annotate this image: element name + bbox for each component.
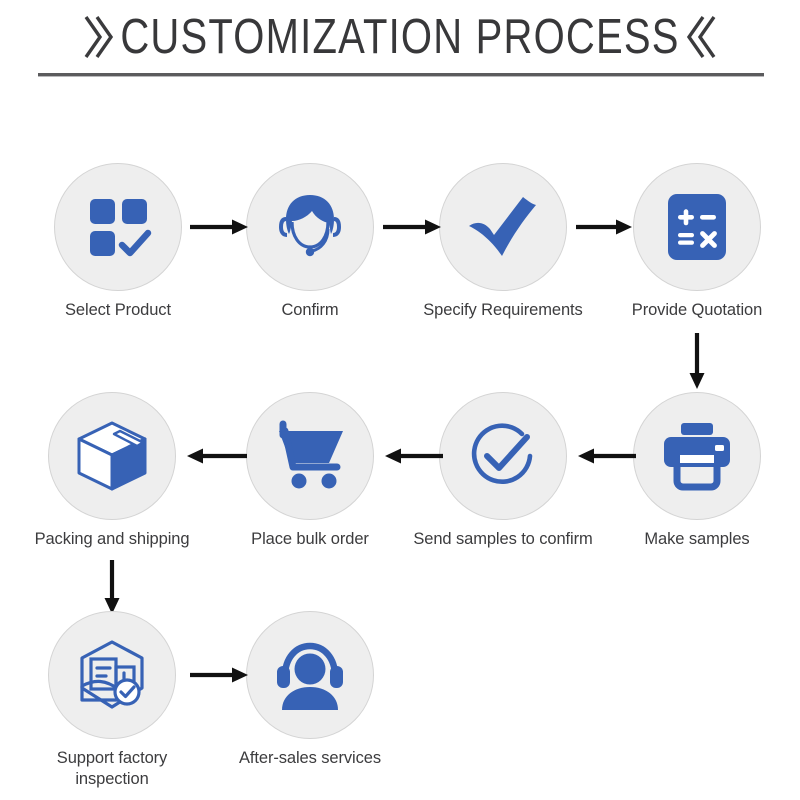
flow-arrow-right-4 [190,663,250,687]
printer-icon [659,421,735,491]
package-box-icon [75,419,149,493]
step-label: Place bulk order [220,529,400,550]
headset-support-icon [271,640,349,710]
step-icon-bubble [439,392,567,520]
flow-arrow-left-2 [383,444,443,468]
step-node-packing-and-shipping[interactable]: Packing and shipping [22,392,202,550]
step-node-after-sales-services[interactable]: After-sales services [220,611,400,769]
flow-arrow-down-2 [100,560,124,616]
step-icon-bubble [54,163,182,291]
page-title: CUSTOMIZATION PROCESS [120,9,679,65]
step-icon-bubble [48,392,176,520]
step-node-place-bulk-order[interactable]: Place bulk order [220,392,400,550]
step-node-make-samples[interactable]: Make samples [607,392,787,550]
step-label: Select Product [28,300,208,321]
step-icon-bubble [246,163,374,291]
step-node-send-samples-to-confirm[interactable]: Send samples to confirm [413,392,593,550]
step-label: Specify Requirements [413,300,593,321]
step-node-select-product[interactable]: Select Product [28,163,208,321]
flow-arrow-right-2 [383,215,443,239]
step-label: Send samples to confirm [413,529,593,550]
shopping-cart-icon [271,419,349,493]
calculator-icon [664,191,730,263]
step-label: Confirm [220,300,400,321]
shield-document-check-icon [73,637,151,713]
double-chevron-left-icon [686,14,720,60]
title-row: CUSTOMIZATION PROCESS [0,8,800,66]
step-node-confirm[interactable]: Confirm [220,163,400,321]
circle-check-icon [465,418,541,494]
step-icon-bubble [246,611,374,739]
step-icon-bubble [633,392,761,520]
page-header: CUSTOMIZATION PROCESS [0,0,800,86]
flow-arrow-right-1 [190,215,250,239]
grid-check-icon [82,191,154,263]
step-label: Support factory inspection [22,748,202,790]
step-node-support-factory-inspection[interactable]: Support factory inspection [22,611,202,790]
step-icon-bubble [246,392,374,520]
flow-arrow-down-1 [685,333,709,391]
headset-agent-icon [272,189,348,265]
step-icon-bubble [439,163,567,291]
step-icon-bubble [48,611,176,739]
step-label: Provide Quotation [607,300,787,321]
flow-arrow-right-3 [576,215,634,239]
title-divider [38,73,764,77]
flow-arrow-left-1 [576,444,636,468]
step-node-specify-requirements[interactable]: Specify Requirements [413,163,593,321]
step-icon-bubble [633,163,761,291]
step-node-provide-quotation[interactable]: Provide Quotation [607,163,787,321]
step-label: Make samples [607,529,787,550]
checkmark-icon [464,188,542,266]
step-label: Packing and shipping [22,529,202,550]
double-chevron-right-icon [80,14,114,60]
flow-arrow-left-3 [185,444,247,468]
step-label: After-sales services [220,748,400,769]
